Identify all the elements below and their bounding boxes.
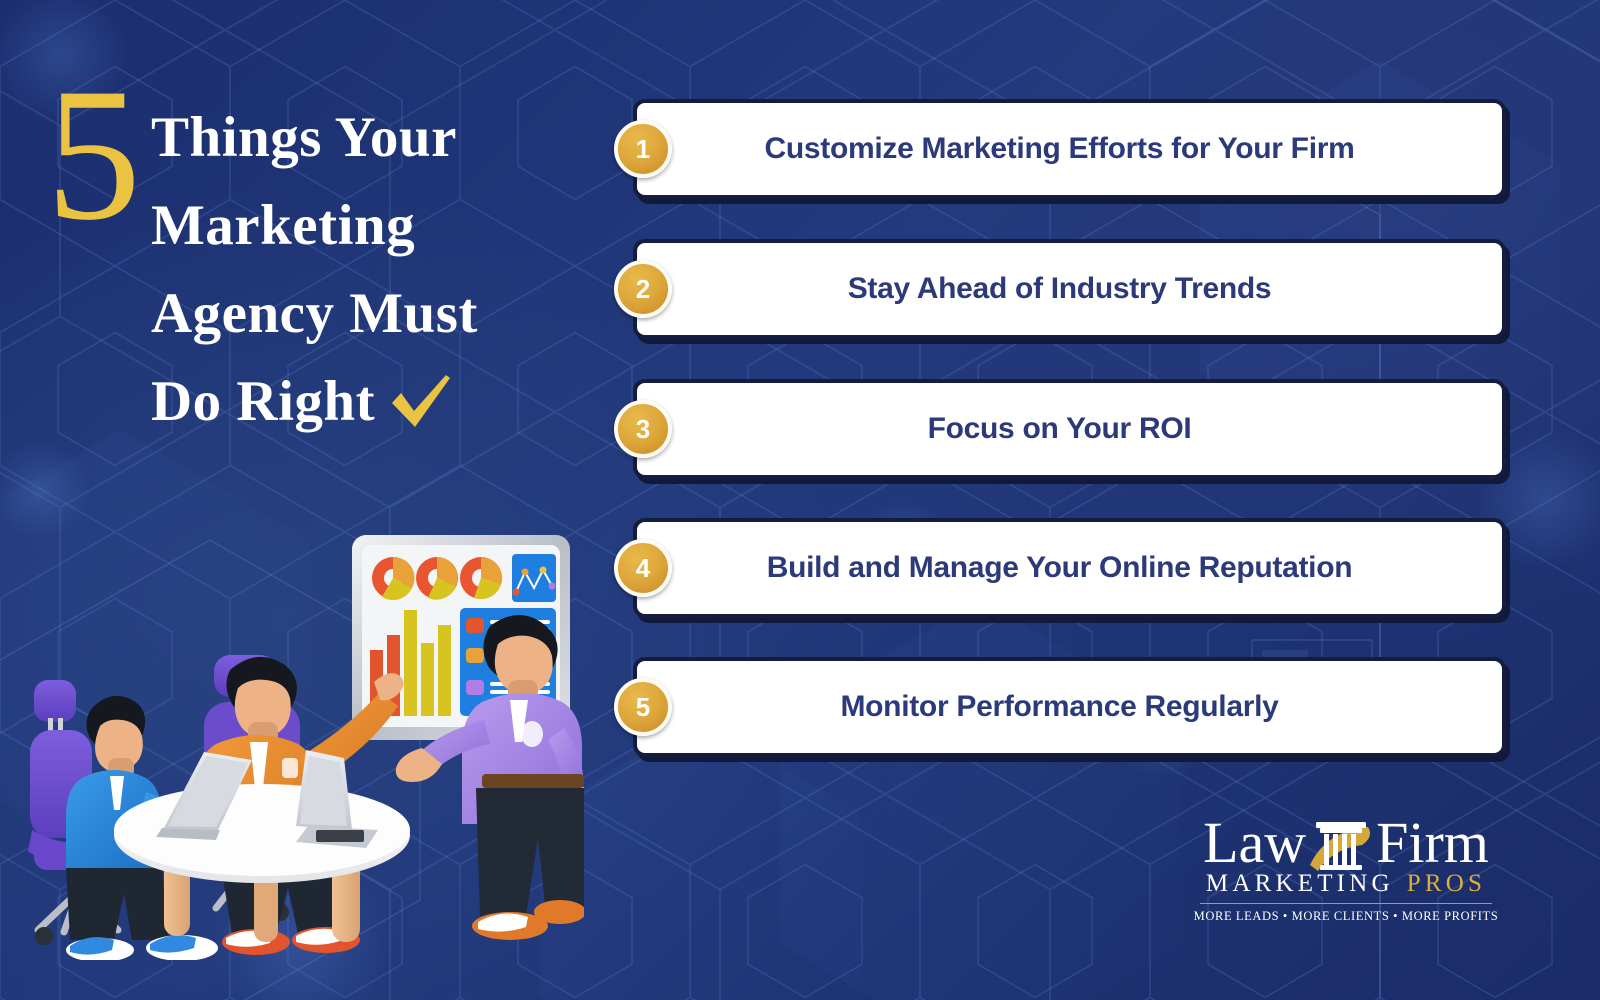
title-line-4: Do Right [151,358,375,446]
check-icon [389,374,451,430]
list-item[interactable]: Customize Marketing Efforts for Your Fir… [614,99,1506,199]
list-item[interactable]: Focus on Your ROI 3 [614,379,1506,479]
step-card-5-label: Monitor Performance Regularly [768,690,1370,724]
headline-number: 5 [46,80,137,230]
step-card-1[interactable]: Customize Marketing Efforts for Your Fir… [633,99,1506,199]
page-title: Things Your Marketing Agency Must Do Rig… [151,86,478,446]
step-badge-1: 1 [614,120,672,178]
list-item[interactable]: Stay Ahead of Industry Trends 2 [614,239,1506,339]
column-pillar-icon [1304,813,1378,873]
step-card-2[interactable]: Stay Ahead of Industry Trends [633,239,1506,339]
headline-block: 5 Things Your Marketing Agency Must Do R… [46,86,591,446]
step-badge-5: 5 [614,678,672,736]
list-item[interactable]: Build and Manage Your Online Reputation … [614,518,1506,618]
step-badge-2: 2 [614,260,672,318]
step-card-4-label: Build and Manage Your Online Reputation [695,551,1445,585]
step-badge-4: 4 [614,539,672,597]
logo-word-firm: Firm [1376,814,1489,872]
logo-wordmark: Law Firm [1186,812,1506,874]
step-card-4[interactable]: Build and Manage Your Online Reputation [633,518,1506,618]
left-column: 5 Things Your Marketing Agency Must Do R… [0,0,600,1000]
brand-logo[interactable]: Law Firm MARKETING PROS MORE LEADS • MOR… [1186,812,1506,924]
donut-charts [372,557,502,600]
step-card-3-label: Focus on Your ROI [856,412,1284,446]
logo-divider [1200,903,1492,904]
team-meeting-3d-illustration [4,530,584,960]
step-badge-3: 3 [614,400,672,458]
logo-tagline: MORE LEADS • MORE CLIENTS • MORE PROFITS [1186,909,1506,924]
title-line-2: Marketing [151,182,478,270]
logo-word-law: Law [1203,814,1306,872]
step-card-3[interactable]: Focus on Your ROI [633,379,1506,479]
step-card-5[interactable]: Monitor Performance Regularly [633,657,1506,757]
step-card-1-label: Customize Marketing Efforts for Your Fir… [693,132,1447,166]
title-line-3: Agency Must [151,270,478,358]
title-line-1: Things Your [151,94,478,182]
step-card-2-label: Stay Ahead of Industry Trends [776,272,1364,306]
line-chart-panel [512,554,556,602]
list-item[interactable]: Monitor Performance Regularly 5 [614,657,1506,757]
